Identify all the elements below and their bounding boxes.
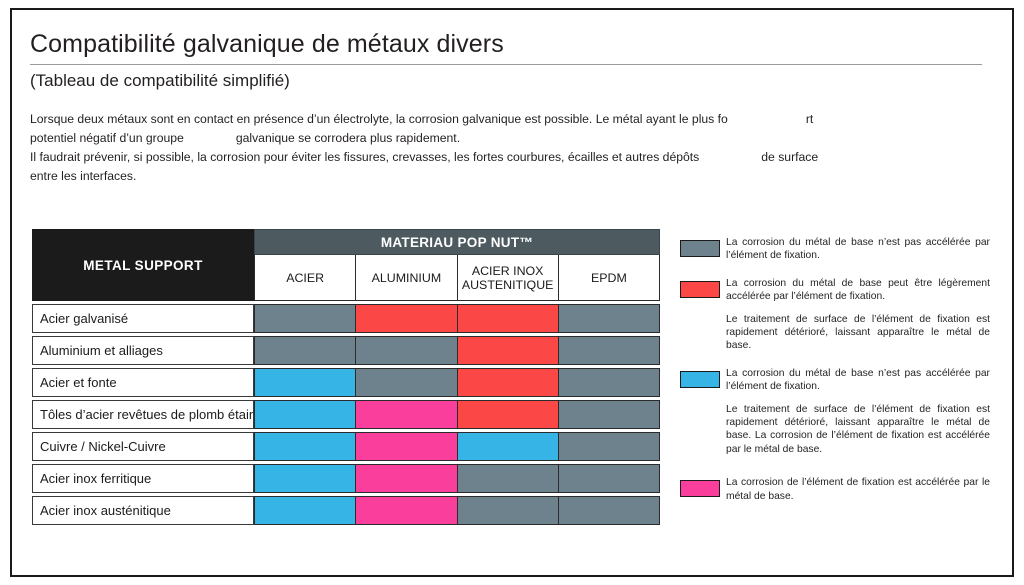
matrix-cell: [457, 336, 559, 365]
intro-line-2b: galvanique se corrodera plus rapidement.: [236, 131, 460, 145]
legend-text: La corrosion du métal de base n’est pas …: [726, 236, 990, 263]
column-headers: MATERIAU POP NUT™ ACIER ALUMINIUM ACIER …: [254, 229, 660, 301]
page-frame: Compatibilité galvanique de métaux diver…: [10, 8, 1014, 577]
matrix-cell: [558, 304, 660, 333]
row-cells: [254, 304, 660, 333]
row-cells: [254, 400, 660, 429]
legend: La corrosion du métal de base n’est pas …: [680, 236, 990, 508]
row-cells: [254, 496, 660, 525]
column-header-aluminium: ALUMINIUM: [355, 255, 457, 301]
matrix-cell: [254, 304, 356, 333]
intro-line-3b: de surface: [761, 150, 818, 164]
legend-item-red: La corrosion du métal de base peut être …: [680, 277, 990, 353]
row-label: Acier et fonte: [32, 368, 254, 397]
column-header-acier-inox-austenitique: ACIER INOXAUSTENITIQUE: [457, 255, 559, 301]
matrix-cell: [558, 496, 660, 525]
row-cells: [254, 464, 660, 493]
legend-text: La corrosion de l’élément de fixation es…: [726, 476, 990, 503]
table-row: Acier inox ferritique: [32, 464, 660, 493]
legend-text: Le traitement de surface de l’élément de…: [726, 313, 990, 353]
matrix-cell: [457, 304, 559, 333]
column-header-epdm: EPDM: [558, 255, 660, 301]
matrix-cell: [254, 368, 356, 397]
matrix-cell: [355, 336, 457, 365]
matrix-cell: [254, 336, 356, 365]
legend-item-gray: La corrosion du métal de base n’est pas …: [680, 236, 990, 263]
legend-item-pink: La corrosion de l’élément de fixation es…: [680, 476, 990, 503]
legend-swatch-red-icon: [680, 281, 720, 298]
row-label: Acier inox austénitique: [32, 496, 254, 525]
legend-text: La corrosion du métal de base peut être …: [726, 277, 990, 304]
column-header-acier: ACIER: [254, 255, 356, 301]
page-subtitle: (Tableau de compatibilité simplifié): [30, 71, 290, 91]
row-label: Acier galvanisé: [32, 304, 254, 333]
matrix-cell: [355, 368, 457, 397]
matrix-cell: [355, 432, 457, 461]
legend-swatch-pink-icon: [680, 480, 720, 497]
intro-line-4: entre les interfaces.: [30, 169, 136, 183]
matrix-cell: [355, 304, 457, 333]
intro-line-3a: Il faudrait prévenir, si possible, la co…: [30, 150, 699, 164]
page-title: Compatibilité galvanique de métaux diver…: [30, 30, 504, 59]
matrix-cell: [558, 336, 660, 365]
legend-swatch-blue-icon: [680, 371, 720, 388]
compatibility-table: METAL SUPPORT MATERIAU POP NUT™ ACIER AL…: [32, 229, 660, 525]
table-row: Acier galvanisé: [32, 304, 660, 333]
row-label: Acier inox ferritique: [32, 464, 254, 493]
matrix-cell: [457, 464, 559, 493]
intro-paragraph: Lorsque deux métaux sont en contact en p…: [30, 110, 990, 186]
matrix-cell: [457, 400, 559, 429]
matrix-cell: [355, 400, 457, 429]
matrix-cell: [558, 432, 660, 461]
row-cells: [254, 336, 660, 365]
table-row: Aluminium et alliages: [32, 336, 660, 365]
table-row: Acier et fonte: [32, 368, 660, 397]
legend-text: Le traitement de surface de l’élément de…: [726, 403, 990, 457]
intro-line-1b: rt: [806, 112, 813, 126]
column-group-label: MATERIAU POP NUT™: [254, 229, 660, 255]
matrix-cell: [558, 400, 660, 429]
row-cells: [254, 432, 660, 461]
row-label: Aluminium et alliages: [32, 336, 254, 365]
title-divider: [30, 64, 982, 65]
table-row: Acier inox austénitique: [32, 496, 660, 525]
intro-line-1a: Lorsque deux métaux sont en contact en p…: [30, 112, 728, 126]
table-row: Cuivre / Nickel-Cuivre: [32, 432, 660, 461]
matrix-cell: [457, 496, 559, 525]
matrix-cell: [457, 432, 559, 461]
row-header-label: METAL SUPPORT: [32, 229, 254, 301]
matrix-cell: [355, 464, 457, 493]
matrix-cell: [558, 368, 660, 397]
row-label: Tôles d’acier revêtues de plomb étain: [32, 400, 254, 429]
row-cells: [254, 368, 660, 397]
row-label: Cuivre / Nickel-Cuivre: [32, 432, 254, 461]
legend-text: La corrosion du métal de base n’est pas …: [726, 367, 990, 394]
matrix-cell: [457, 368, 559, 397]
matrix-cell: [254, 496, 356, 525]
legend-item-blue: La corrosion du métal de base n’est pas …: [680, 367, 990, 456]
matrix-cell: [355, 496, 457, 525]
matrix-cell: [558, 464, 660, 493]
table-header: METAL SUPPORT MATERIAU POP NUT™ ACIER AL…: [32, 229, 660, 301]
matrix-cell: [254, 400, 356, 429]
legend-swatch-gray-icon: [680, 240, 720, 257]
intro-line-2a: potentiel négatif d’un groupe: [30, 131, 184, 145]
matrix-cell: [254, 464, 356, 493]
matrix-cell: [254, 432, 356, 461]
table-row: Tôles d’acier revêtues de plomb étain: [32, 400, 660, 429]
column-sub-headers: ACIER ALUMINIUM ACIER INOXAUSTENITIQUE E…: [254, 255, 660, 301]
